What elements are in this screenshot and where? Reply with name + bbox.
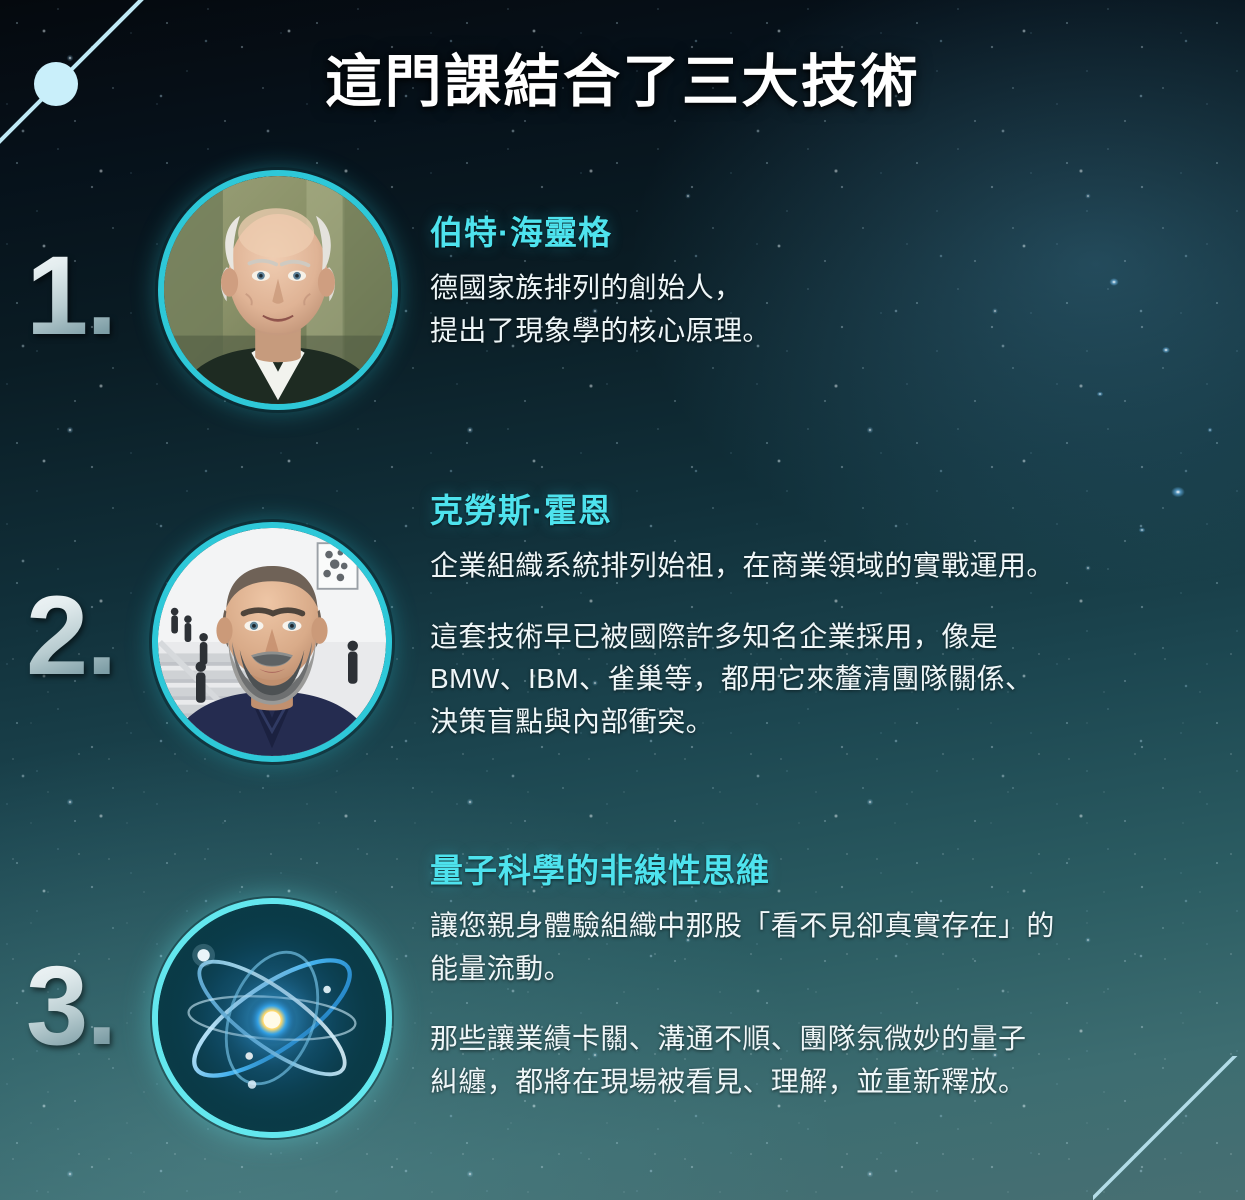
section-3-text-column: 量子科學的非線性思維 讓您親身體驗組織中那股「看不見卻真實存在」的 能量流動。 … xyxy=(430,850,1230,1103)
ordinal-number-1: 1. xyxy=(26,240,176,352)
text-line: 糾纏，都將在現場被看見、理解，並重新釋放。 xyxy=(430,1061,1230,1104)
section-3-paragraph-2: 那些讓業績卡關、溝通不順、團隊氛微妙的量子 糾纏，都將在現場被看見、理解，並重新… xyxy=(430,1018,1230,1103)
section-2-heading: 克勞斯·霍恩 xyxy=(430,490,1230,531)
infographic-canvas: 這門課結合了三大技術 1. xyxy=(0,0,1245,1200)
text-line: 這套技術早已被國際許多知名企業採用，像是 xyxy=(430,616,1230,659)
section-2-text-column: 克勞斯·霍恩 企業組織系統排列始祖，在商業領域的實戰運用。 這套技術早已被國際許… xyxy=(430,490,1230,743)
atom-icon xyxy=(158,904,386,1132)
text-line: 那些讓業績卡關、溝通不順、團隊氛微妙的量子 xyxy=(430,1018,1230,1061)
portrait-bert-hellinger-icon xyxy=(164,176,392,404)
section-3-heading: 量子科學的非線性思維 xyxy=(430,850,1230,891)
text-line: BMW、IBM、雀巢等，都用它來釐清團隊關係、 xyxy=(430,658,1230,701)
text-line: 讓您親身體驗組織中那股「看不見卻真實存在」的 xyxy=(430,905,1230,948)
portrait-klaus-horn-icon xyxy=(158,528,386,756)
section-1-heading: 伯特·海靈格 xyxy=(430,212,1230,253)
page-title: 這門課結合了三大技術 xyxy=(0,36,1245,118)
section-1-paragraph-1: 德國家族排列的創始人， 提出了現象學的核心原理。 xyxy=(430,267,1230,352)
avatar[interactable] xyxy=(152,522,392,762)
text-line: 企業組織系統排列始祖，在商業領域的實戰運用。 xyxy=(430,545,1230,588)
text-line: 決策盲點與內部衝突。 xyxy=(430,701,1230,744)
avatar[interactable] xyxy=(158,170,398,410)
section-2-paragraph-1: 企業組織系統排列始祖，在商業領域的實戰運用。 xyxy=(430,545,1230,588)
section-1-text-column: 伯特·海靈格 德國家族排列的創始人， 提出了現象學的核心原理。 xyxy=(430,212,1230,352)
avatar[interactable] xyxy=(152,898,392,1138)
text-line: 提出了現象學的核心原理。 xyxy=(430,310,1230,353)
text-line: 能量流動。 xyxy=(430,948,1230,991)
text-line: 德國家族排列的創始人， xyxy=(430,267,1230,310)
section-2-paragraph-2: 這套技術早已被國際許多知名企業採用，像是 BMW、IBM、雀巢等，都用它來釐清團… xyxy=(430,616,1230,744)
section-3-paragraph-1: 讓您親身體驗組織中那股「看不見卻真實存在」的 能量流動。 xyxy=(430,905,1230,990)
